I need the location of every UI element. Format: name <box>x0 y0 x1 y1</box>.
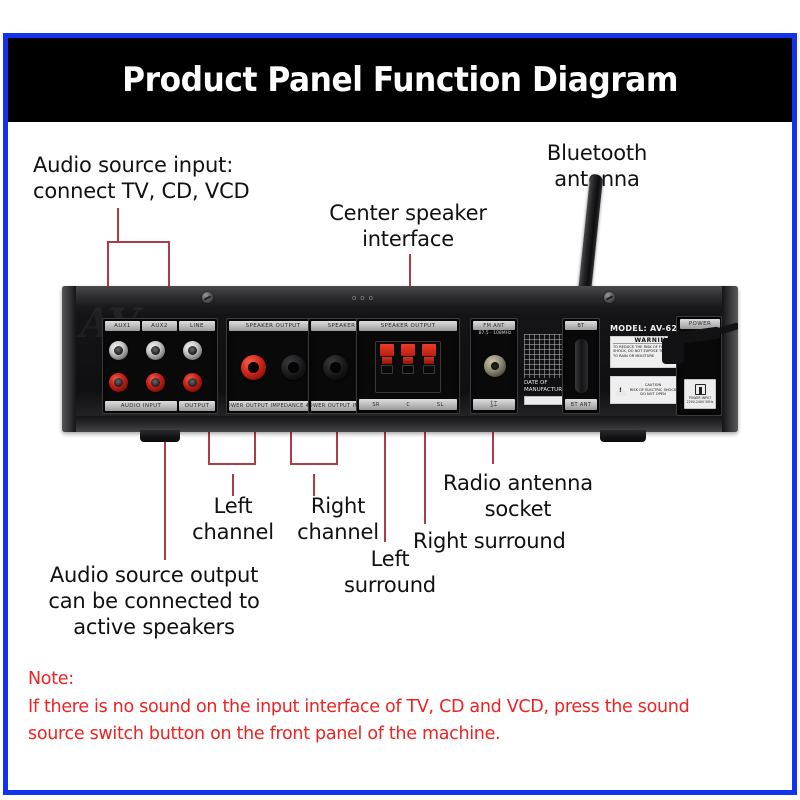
screw-right <box>604 292 615 303</box>
chassis-top-edge <box>62 286 738 308</box>
bt-antenna-block: BT BT ANT <box>562 318 600 414</box>
diagram-page: Product Panel Function Diagram Audio sou… <box>0 0 800 800</box>
spring-clip-c[interactable] <box>401 344 415 374</box>
clip-body-c <box>403 357 413 364</box>
leader-leftch-stem <box>232 474 234 496</box>
clip-lever-c[interactable] <box>401 344 415 356</box>
binding-post-left-positive[interactable] <box>241 355 266 380</box>
fm-icon-strip: ⟆⌶ <box>473 399 515 410</box>
label-audio-input: AUDIO INPUT <box>105 401 177 411</box>
clip-hole-sr <box>381 365 393 374</box>
chassis-right-bevel <box>722 286 738 432</box>
rca-jack-aux2-white[interactable] <box>146 341 165 360</box>
clip-hole-c <box>402 365 414 374</box>
binding-post-right-negative[interactable] <box>323 355 348 380</box>
rca-jack-aux1-white[interactable] <box>109 341 128 360</box>
clip-hole-sl <box>423 365 435 374</box>
callout-left-channel: Left channel <box>178 493 288 545</box>
clip-label-sl: SL <box>437 402 444 408</box>
chassis: AV AV ooo AUX1 AUX2 LINE AUDIO INPUT OUT… <box>62 286 738 432</box>
clip-lever-sr[interactable] <box>380 344 394 356</box>
rca-jack-aux1-red[interactable] <box>109 373 128 392</box>
callout-audio-source-output: Audio source output can be connected to … <box>20 562 288 640</box>
fm-coax-socket[interactable] <box>484 355 506 377</box>
rca-jack-line-white[interactable] <box>183 341 202 360</box>
spring-clip-sl[interactable] <box>422 344 436 374</box>
clip-lever-sl[interactable] <box>422 344 436 356</box>
label-aux1: AUX1 <box>105 321 140 331</box>
hazard-triangle-left-icon <box>615 385 627 396</box>
spring-clip-terminal-block <box>375 341 441 393</box>
chassis-foot-left <box>140 430 180 442</box>
label-bt-ant: BT ANT <box>565 399 597 410</box>
caution-body: CAUTION RISK OF ELECTRIC SHOCK DO NOT OP… <box>627 383 679 396</box>
leader-rightch-stem <box>313 474 315 496</box>
rca-jack-aux2-red[interactable] <box>146 373 165 392</box>
page-title: Product Panel Function Diagram <box>122 60 678 100</box>
amplifier-rear-panel: AV AV ooo AUX1 AUX2 LINE AUDIO INPUT OUT… <box>62 286 738 432</box>
ac-inlet-plate[interactable]: POWER INPUT 220V-240V 50Hz <box>684 379 716 409</box>
spring-clip-sr[interactable] <box>380 344 394 374</box>
callout-right-surround: Right surround <box>413 528 566 554</box>
callout-center-speaker-interface: Center speaker interface <box>318 200 498 252</box>
speaker-output-block-1: SPEAKER OUTPUT POWER OUTPUT IMPEDANCE 4-… <box>226 318 320 414</box>
bt-antenna-base <box>575 339 588 393</box>
leader-left-surround <box>384 432 386 542</box>
label-speaker-output-3: SPEAKER OUTPUT <box>359 321 457 331</box>
chassis-left-bevel <box>62 286 76 432</box>
note-line-2: source switch button on the front panel … <box>28 721 500 748</box>
antenna-icon: ⟆⌶ <box>490 400 498 409</box>
label-bt-ant-top: BT <box>565 321 597 330</box>
callout-right-channel: Right channel <box>283 493 393 545</box>
clip-label-sr: SR <box>372 402 379 408</box>
rca-jack-line-red[interactable] <box>183 373 202 392</box>
chassis-foot-right <box>600 430 646 442</box>
label-line: LINE <box>179 321 215 331</box>
title-banner: Product Panel Function Diagram <box>8 38 792 122</box>
screw-left <box>202 292 213 303</box>
audio-io-block: AUX1 AUX2 LINE AUDIO INPUT OUTPUT <box>102 318 218 414</box>
label-date-of-manufacture: DATE OF MANUFACTURE <box>524 380 566 393</box>
leader-input-stem <box>117 208 119 242</box>
clip-body-sr <box>382 357 392 364</box>
leader-rightch-bracket <box>290 463 338 465</box>
clip-labels-strip: SR C SL <box>359 399 457 410</box>
note-line-1: If there is no sound on the input interf… <box>28 694 689 721</box>
leader-input-bracket <box>107 241 170 243</box>
callout-radio-antenna-socket: Radio antenna socket <box>424 470 612 522</box>
leader-right-surround <box>424 432 426 524</box>
label-impedance-1: POWER OUTPUT IMPEDANCE 4-16Ω <box>229 401 317 411</box>
clip-body-sl <box>424 357 434 364</box>
leader-leftch-bracket <box>208 463 256 465</box>
label-fm-range: 87.5 - 108MHz <box>475 331 515 336</box>
callout-audio-source-input: Audio source input: connect TV, CD, VCD <box>33 152 250 204</box>
label-aux2: AUX2 <box>142 321 177 331</box>
binding-post-left-negative[interactable] <box>281 355 306 380</box>
surround-speaker-block: SPEAKER OUTPUT <box>356 318 460 414</box>
ac-inlet-icon <box>695 384 706 395</box>
note-heading: Note: <box>28 666 74 693</box>
clip-label-c: C <box>406 402 410 408</box>
label-output: OUTPUT <box>179 401 215 411</box>
power-cord-body <box>662 338 684 364</box>
vent-marks: ooo <box>352 294 377 302</box>
label-fm-ant: FM ANT <box>473 321 515 330</box>
label-speaker-output-1: SPEAKER OUTPUT <box>229 321 317 331</box>
fm-antenna-block: FM ANT 87.5 - 108MHz ⟆⌶ <box>470 318 518 414</box>
power-socket-note: POWER INPUT 220V-240V 50Hz <box>687 396 714 404</box>
